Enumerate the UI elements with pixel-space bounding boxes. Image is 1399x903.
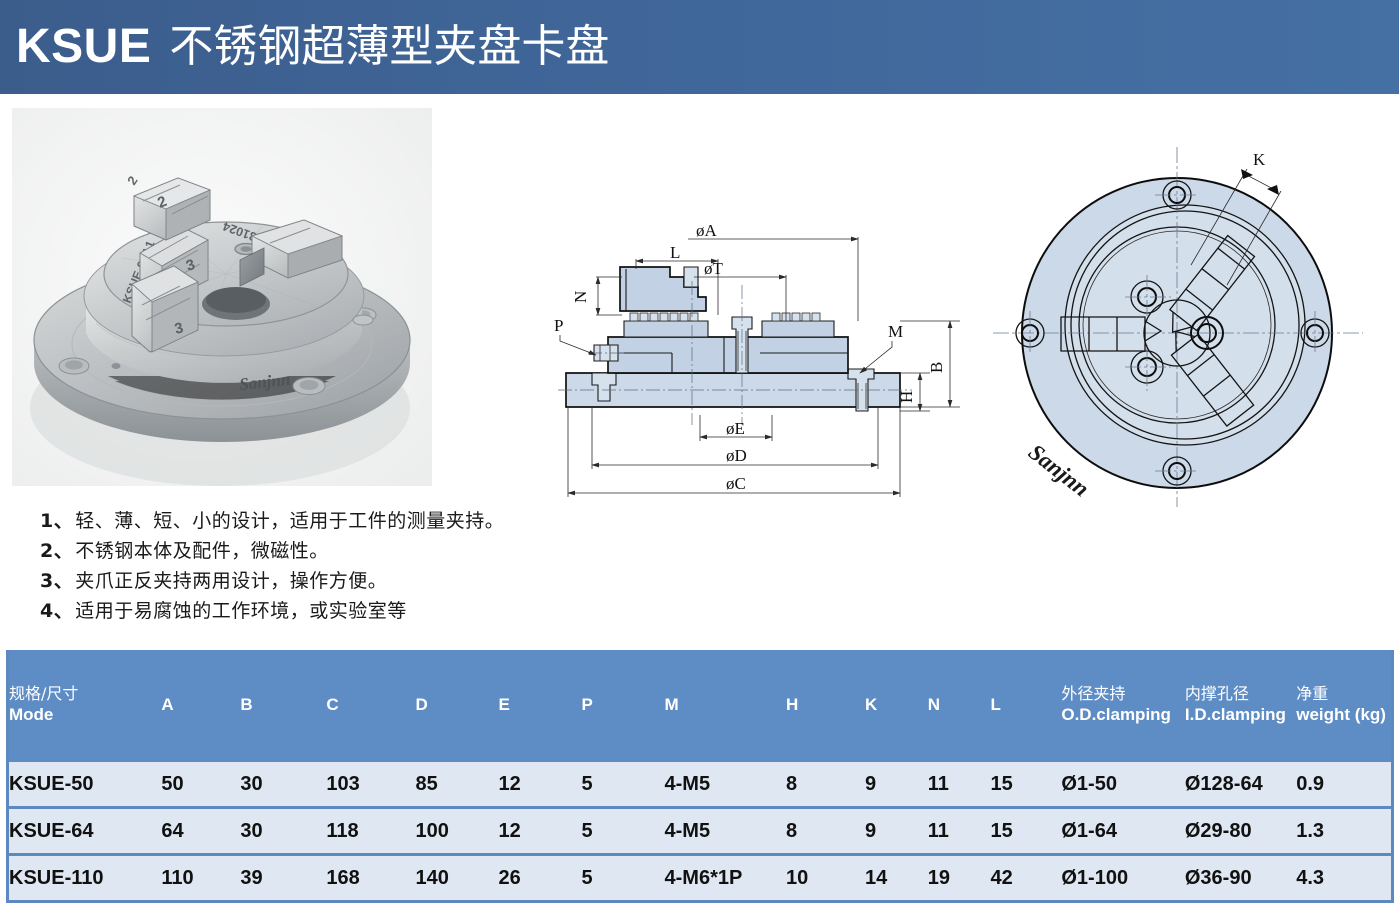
- table-header-row: 规格/尺寸 Mode A B C D E P M H K N L 外径夹持 O.…: [8, 650, 1393, 762]
- dim-label-H: H: [897, 391, 916, 403]
- col-header-model-cn: 规格/尺寸: [9, 683, 161, 704]
- cross-section-drawing: .ln { stroke:#1b1b1b; stroke-width:1.1; …: [548, 225, 978, 515]
- cell-weight: 0.9: [1296, 762, 1392, 808]
- cell-l: 15: [991, 808, 1062, 855]
- features-list: 1、轻、薄、短、小的设计，适用于工件的测量夹持。 2、不锈钢本体及配件，微磁性。…: [40, 506, 560, 626]
- feature-number: 4、: [40, 600, 73, 622]
- plan-view-drawing: .pln { stroke:#141414; stroke-width:1.3;…: [985, 125, 1395, 510]
- col-header-l: L: [991, 650, 1062, 762]
- dim-label-diaD: øD: [726, 446, 747, 465]
- cell-h: 8: [786, 762, 865, 808]
- cell-n: 11: [928, 762, 991, 808]
- cell-c: 103: [326, 762, 415, 808]
- cell-d: 140: [415, 855, 498, 902]
- col-header-b: B: [240, 650, 326, 762]
- dim-label-diaC: øC: [726, 474, 746, 493]
- col-header-id-clamping: 内撑孔径 I.D.clamping: [1185, 650, 1296, 762]
- cell-e: 26: [498, 855, 581, 902]
- cell-od-clamping: Ø1-64: [1061, 808, 1185, 855]
- product-photo: KSUE-04A1 231024 Sanjnn 3: [12, 108, 432, 486]
- cell-b: 30: [240, 762, 326, 808]
- feature-number: 2、: [40, 540, 73, 562]
- dim-label-N: N: [571, 291, 590, 303]
- col-header-e: E: [498, 650, 581, 762]
- cell-model: KSUE-64: [8, 808, 162, 855]
- col-header-od-clamping: 外径夹持 O.D.clamping: [1061, 650, 1185, 762]
- cell-b: 30: [240, 808, 326, 855]
- cell-weight: 4.3: [1296, 855, 1392, 902]
- feature-number: 1、: [40, 510, 73, 532]
- cell-l: 42: [991, 855, 1062, 902]
- col-header-m: M: [665, 650, 786, 762]
- col-header-d: D: [415, 650, 498, 762]
- cell-c: 118: [326, 808, 415, 855]
- col-header-c: C: [326, 650, 415, 762]
- cell-od-clamping: Ø1-50: [1061, 762, 1185, 808]
- cell-h: 10: [786, 855, 865, 902]
- feature-text: 轻、薄、短、小的设计，适用于工件的测量夹持。: [75, 510, 504, 532]
- cell-id-clamping: Ø128-64: [1185, 762, 1296, 808]
- cell-od-clamping: Ø1-100: [1061, 855, 1185, 902]
- dim-label-L: L: [670, 243, 680, 262]
- cell-id-clamping: Ø36-90: [1185, 855, 1296, 902]
- feature-item: 1、轻、薄、短、小的设计，适用于工件的测量夹持。: [40, 506, 560, 536]
- cell-model: KSUE-110: [8, 855, 162, 902]
- cell-d: 100: [415, 808, 498, 855]
- cell-b: 39: [240, 855, 326, 902]
- cell-k: 9: [865, 808, 928, 855]
- feature-item: 2、不锈钢本体及配件，微磁性。: [40, 536, 560, 566]
- cell-n: 19: [928, 855, 991, 902]
- cell-h: 8: [786, 808, 865, 855]
- cell-a: 110: [161, 855, 240, 902]
- table-row: KSUE-64 64 30 118 100 12 5 4-M5 8 9 11 1…: [8, 808, 1393, 855]
- cell-d: 85: [415, 762, 498, 808]
- col-header-a: A: [161, 650, 240, 762]
- feature-item: 4、适用于易腐蚀的工作环境，或实验室等: [40, 596, 560, 626]
- cell-l: 15: [991, 762, 1062, 808]
- chuck-photo-illustration: KSUE-04A1 231024 Sanjnn 3: [12, 108, 432, 486]
- cell-p: 5: [582, 762, 665, 808]
- dim-label-diaT: øT: [704, 259, 724, 278]
- cell-weight: 1.3: [1296, 808, 1392, 855]
- cell-e: 12: [498, 808, 581, 855]
- specification-table: 规格/尺寸 Mode A B C D E P M H K N L 外径夹持 O.…: [6, 650, 1394, 903]
- cell-n: 11: [928, 808, 991, 855]
- cell-model: KSUE-50: [8, 762, 162, 808]
- col-header-k: K: [865, 650, 928, 762]
- feature-text: 夹爪正反夹持两用设计，操作方便。: [75, 570, 387, 592]
- col-header-h: H: [786, 650, 865, 762]
- col-header-model: 规格/尺寸 Mode: [8, 650, 162, 762]
- feature-text: 适用于易腐蚀的工作环境，或实验室等: [75, 600, 407, 622]
- feature-item: 3、夹爪正反夹持两用设计，操作方便。: [40, 566, 560, 596]
- cell-p: 5: [582, 808, 665, 855]
- cell-k: 9: [865, 762, 928, 808]
- brand-title: KSUE: [16, 23, 151, 71]
- dim-label-diaA: øA: [696, 225, 718, 240]
- table-row: KSUE-110 110 39 168 140 26 5 4-M6*1P 10 …: [8, 855, 1393, 902]
- product-title: 不锈钢超薄型夹盘卡盘: [169, 25, 609, 69]
- cell-m: 4-M5: [665, 808, 786, 855]
- dim-label-K: K: [1253, 150, 1266, 169]
- cell-p: 5: [582, 855, 665, 902]
- col-header-n: N: [928, 650, 991, 762]
- feature-text: 不锈钢本体及配件，微磁性。: [75, 540, 329, 562]
- dim-label-P: P: [554, 316, 563, 335]
- cell-a: 50: [161, 762, 240, 808]
- col-header-model-en: Mode: [9, 704, 161, 725]
- cell-a: 64: [161, 808, 240, 855]
- col-header-weight: 净重 weight (kg): [1296, 650, 1392, 762]
- table-row: KSUE-50 50 30 103 85 12 5 4-M5 8 9 11 15…: [8, 762, 1393, 808]
- cell-m: 4-M5: [665, 762, 786, 808]
- cell-id-clamping: Ø29-80: [1185, 808, 1296, 855]
- cell-e: 12: [498, 762, 581, 808]
- dim-label-M: M: [888, 322, 903, 341]
- dim-label-B: B: [927, 362, 946, 373]
- cell-k: 14: [865, 855, 928, 902]
- cell-c: 168: [326, 855, 415, 902]
- cell-m: 4-M6*1P: [665, 855, 786, 902]
- feature-number: 3、: [40, 570, 73, 592]
- dim-label-diaE: øE: [726, 419, 745, 438]
- page-header-banner: KSUE 不锈钢超薄型夹盘卡盘: [0, 0, 1399, 94]
- col-header-p: P: [582, 650, 665, 762]
